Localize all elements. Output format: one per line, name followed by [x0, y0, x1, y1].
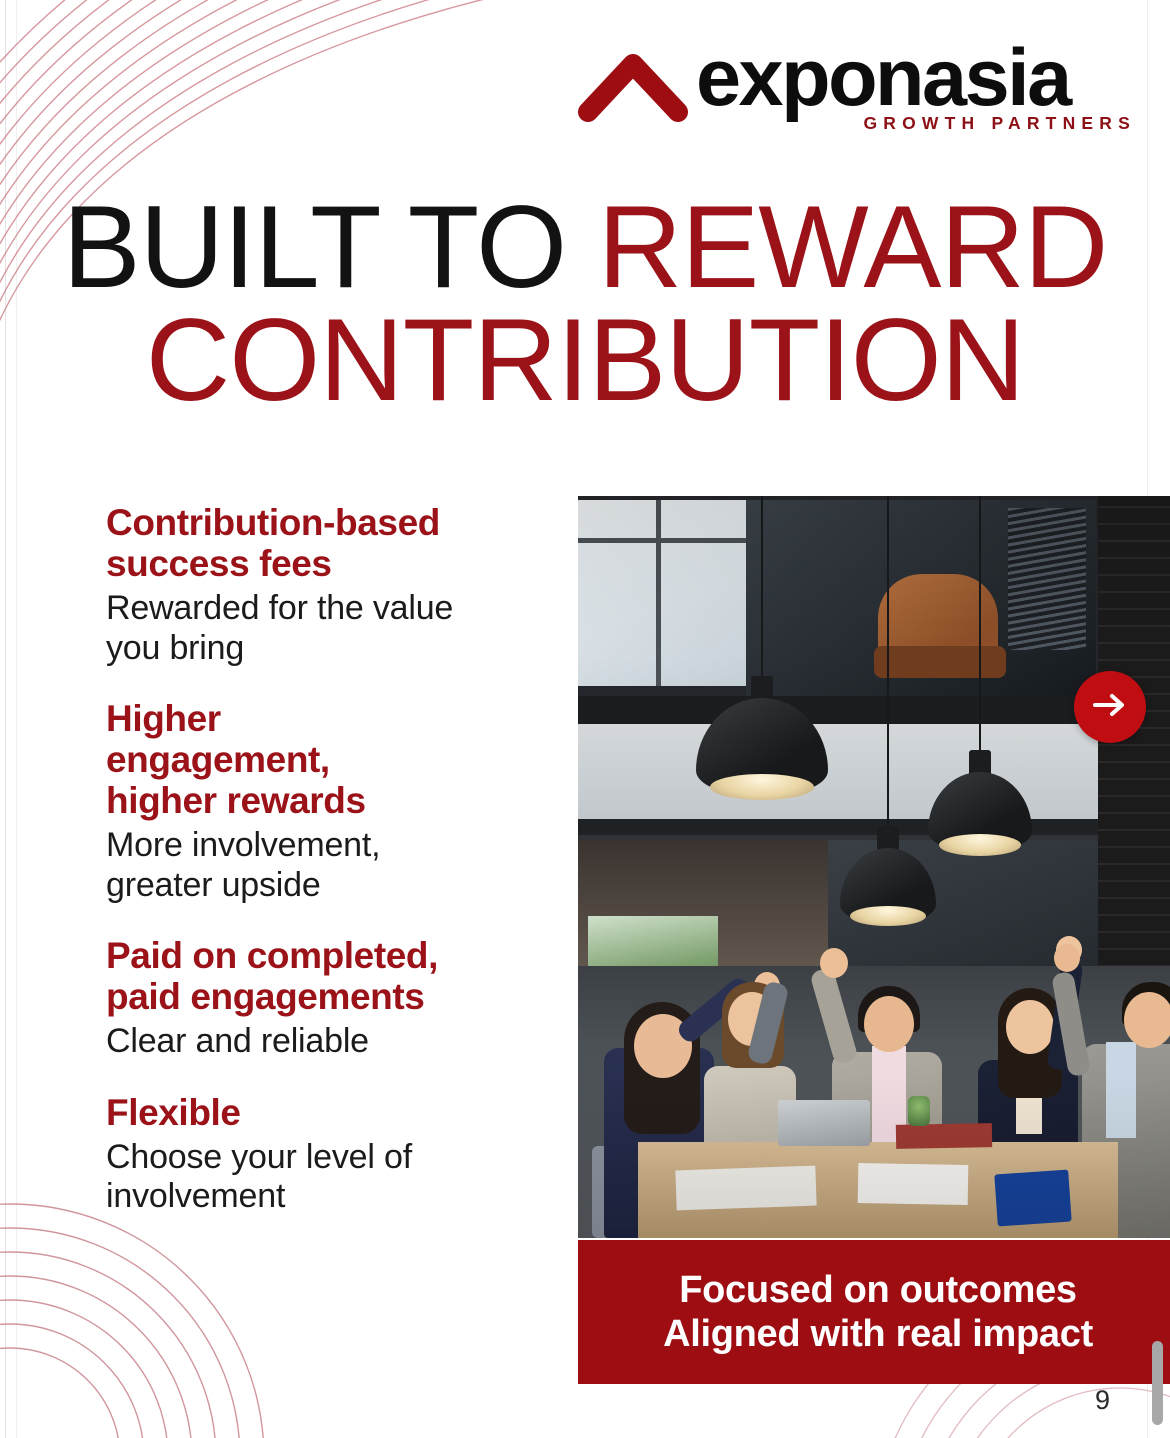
list-item: Flexible Choose your level of involvemen…	[106, 1092, 576, 1217]
benefit-subtitle: Rewarded for the value you bring	[106, 589, 576, 668]
benefit-title: Paid on completed, paid engagements	[106, 935, 576, 1017]
page-title-part-dark: BUILT TO	[63, 181, 567, 312]
arrow-right-icon	[1093, 693, 1127, 722]
team-celebration-photo	[578, 496, 1170, 1238]
chevron-up-icon	[578, 50, 688, 122]
benefit-title: Contribution-based success fees	[106, 502, 576, 584]
benefit-subtitle: More involvement, greater upside	[106, 826, 576, 905]
next-slide-button[interactable]	[1074, 671, 1146, 743]
photo-caption-bar: Focused on outcomes Aligned with real im…	[578, 1240, 1170, 1384]
page-title-line-2: CONTRIBUTION	[0, 303, 1170, 416]
benefit-title: Flexible	[106, 1092, 576, 1133]
scrollbar-track[interactable]	[1148, 0, 1168, 1438]
benefit-title: Higher engagement, higher rewards	[106, 698, 576, 821]
slide: exponasia GROWTH PARTNERS BUILT TO REWAR…	[0, 0, 1170, 1438]
list-item: Contribution-based success fees Rewarded…	[106, 502, 576, 668]
page-title-line-1: BUILT TO REWARD	[0, 190, 1170, 303]
list-item: Higher engagement, higher rewards More i…	[106, 698, 576, 905]
photo-block: Focused on outcomes Aligned with real im…	[578, 496, 1170, 1384]
benefit-list: Contribution-based success fees Rewarded…	[106, 502, 576, 1217]
brand-name: exponasia	[696, 38, 1070, 119]
caption-line-2: Aligned with real impact	[663, 1312, 1093, 1356]
page-title-part-red: REWARD	[566, 181, 1107, 312]
brand-tagline: GROWTH PARTNERS	[863, 115, 1136, 133]
list-item: Paid on completed, paid engagements Clea…	[106, 935, 576, 1062]
benefit-subtitle: Choose your level of involvement	[106, 1138, 576, 1217]
caption-line-1: Focused on outcomes	[679, 1268, 1077, 1312]
page-title: BUILT TO REWARD CONTRIBUTION	[0, 190, 1170, 417]
benefit-subtitle: Clear and reliable	[106, 1022, 576, 1061]
page-number: 9	[1095, 1385, 1110, 1416]
brand-logo: exponasia GROWTH PARTNERS	[578, 44, 1138, 144]
scrollbar-thumb[interactable]	[1152, 1341, 1163, 1425]
